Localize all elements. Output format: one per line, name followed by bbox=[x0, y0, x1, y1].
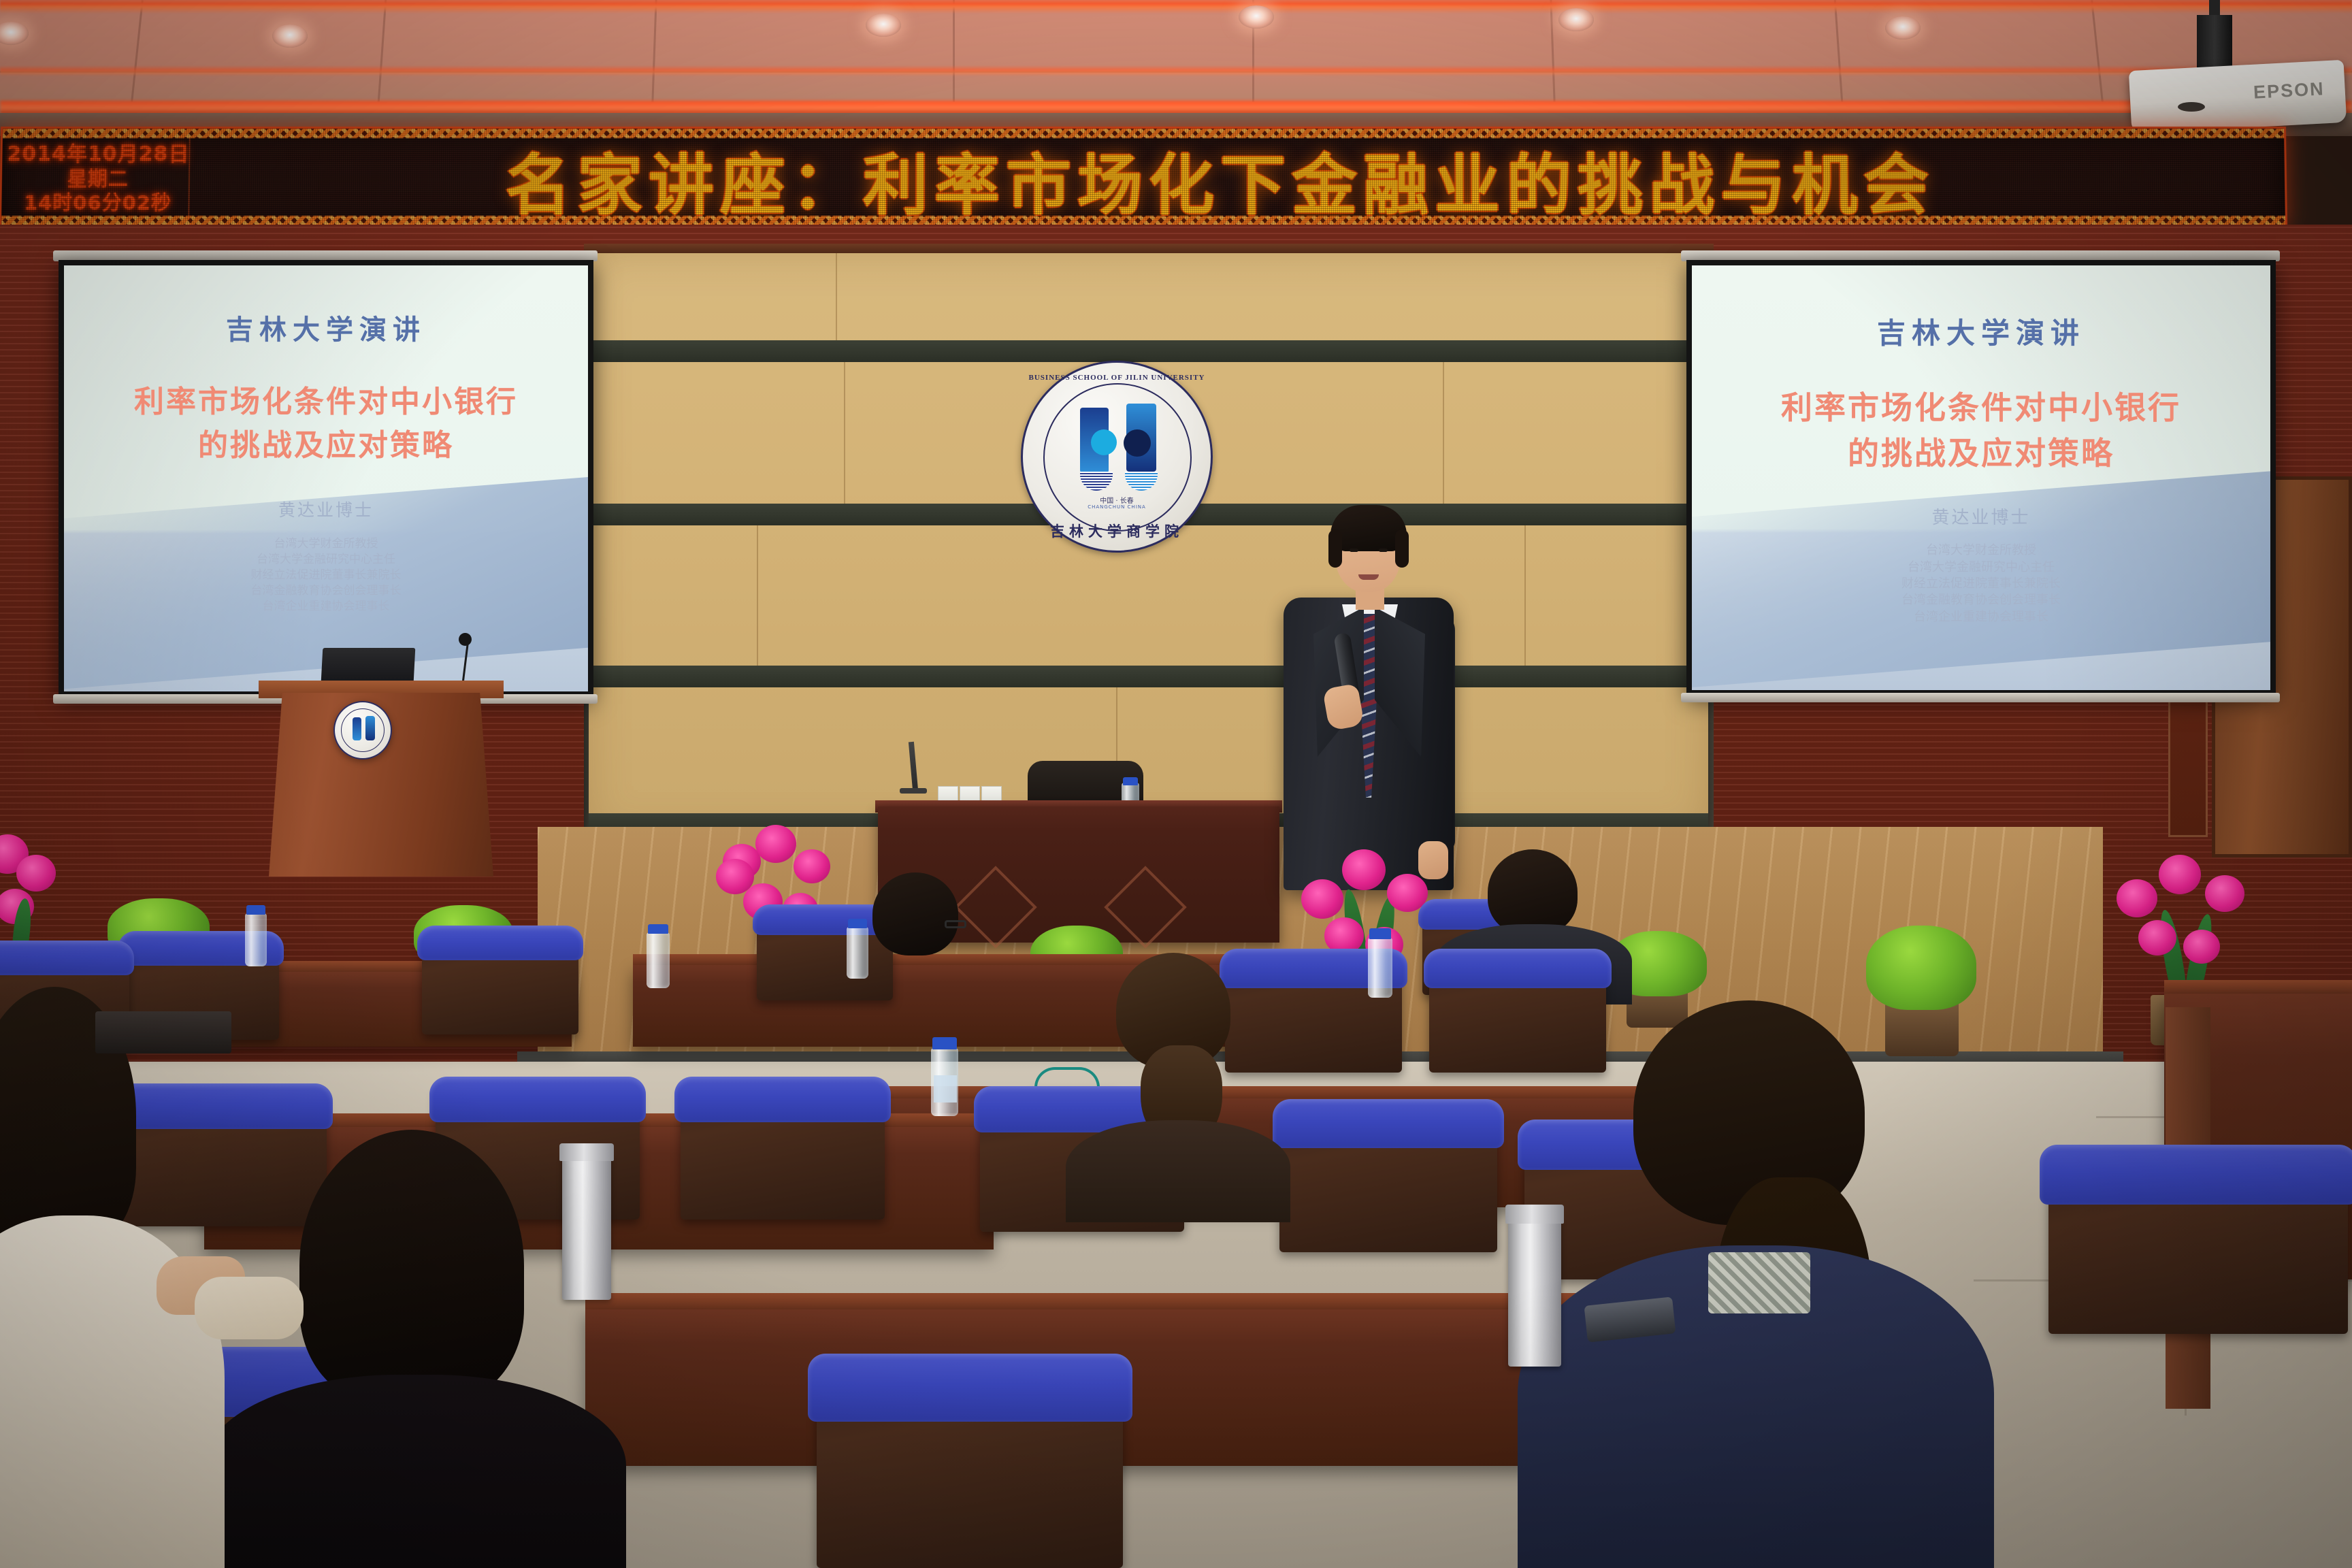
bottle-cap-icon bbox=[932, 1037, 957, 1049]
left-projection-screen: 吉林大学演讲 利率市场化条件对中小银行 的挑战及应对策略 黄达业博士 台湾大学财… bbox=[59, 260, 593, 697]
slide-speaker-name: 黄达业博士 bbox=[1692, 504, 2270, 529]
chair[interactable] bbox=[681, 1086, 885, 1220]
right-projection-screen: 吉林大学演讲 利率市场化条件对中小银行 的挑战及应对策略 黄达业博士 台湾大学财… bbox=[1686, 260, 2276, 696]
speaker-hair-side bbox=[1395, 529, 1409, 568]
seal-logo-mark bbox=[1124, 429, 1151, 457]
jilin-university-business-school-seal: BUSINESS SCHOOL OF JILIN UNIVERSITY 吉林大学… bbox=[1021, 361, 1213, 553]
orchid-flower bbox=[1301, 879, 1343, 919]
slide-credential: 台湾大学财金所教授 bbox=[64, 536, 588, 552]
slide-credential: 财经立法促进院董事长兼院长 bbox=[64, 568, 588, 583]
audience-person-shoulders bbox=[204, 1375, 626, 1568]
wall-panel-seam bbox=[844, 362, 845, 504]
audience-person-head bbox=[1488, 849, 1578, 935]
orchid-flower bbox=[2183, 930, 2220, 964]
audience-person-glasses-icon bbox=[945, 920, 966, 928]
orchid-flower bbox=[794, 849, 830, 883]
slide-heading: 吉林大学演讲 bbox=[1692, 310, 2270, 352]
chair[interactable] bbox=[122, 1093, 327, 1226]
water-bottle[interactable] bbox=[245, 913, 267, 966]
speaker-right-hand bbox=[1418, 841, 1448, 879]
slide-speaker-name: 黄达业博士 bbox=[64, 497, 588, 521]
table-microphone-base bbox=[900, 788, 927, 794]
projector-brand-label: EPSON bbox=[2253, 78, 2325, 103]
orchid-flower bbox=[1342, 849, 1386, 890]
seal-sub-chinese: 中国 · 长春 bbox=[1023, 495, 1211, 505]
audience-person-head bbox=[299, 1130, 524, 1402]
slide-credential: 台湾大学金融研究中心主任 bbox=[64, 552, 588, 568]
thermos-flask[interactable] bbox=[562, 1156, 611, 1300]
projector-lens-icon bbox=[2178, 102, 2205, 112]
audience-person-shoulders bbox=[1066, 1120, 1290, 1222]
lecture-hall-photo: EPSON 2014年10月28日 星期二 14时06分02秒 名家讲座：利率市… bbox=[0, 0, 2352, 1568]
podium-emblem-mark bbox=[353, 717, 361, 740]
bottle-cap-icon bbox=[848, 919, 867, 928]
podium-emblem bbox=[333, 701, 392, 759]
left-screen-surface: 吉林大学演讲 利率市场化条件对中小银行 的挑战及应对策略 黄达业博士 台湾大学财… bbox=[64, 265, 588, 691]
orchid-flower bbox=[2159, 855, 2201, 894]
wall-stripe bbox=[589, 666, 1708, 687]
speaker-hair-side bbox=[1328, 529, 1342, 568]
slide-title-line2: 的挑战及应对策略 bbox=[64, 426, 588, 465]
ceiling-downlight bbox=[1558, 8, 1594, 31]
bottle-cap-icon bbox=[1369, 928, 1391, 939]
water-bottle[interactable] bbox=[847, 927, 868, 979]
slide-credential: 台湾金融教育协会创会理事长 bbox=[64, 583, 588, 599]
chair[interactable] bbox=[422, 932, 578, 1034]
seal-english-text: BUSINESS SCHOOL OF JILIN UNIVERSITY bbox=[1023, 374, 1211, 382]
bottle-cap-icon bbox=[1123, 777, 1138, 785]
bottle-cap-icon bbox=[246, 905, 265, 915]
led-scrolling-banner: 2014年10月28日 星期二 14时06分02秒 名家讲座：利率市场化下金融业… bbox=[0, 127, 2287, 227]
slide-credential: 台湾企业重建协会理事长 bbox=[64, 599, 588, 615]
notebook[interactable] bbox=[95, 1011, 231, 1053]
projector: EPSON bbox=[2129, 60, 2347, 133]
bottle-label bbox=[934, 1075, 957, 1102]
slide-credential: 台湾大学财金所教授 bbox=[1692, 542, 2270, 559]
orchid-flower bbox=[16, 855, 56, 892]
slide-credential: 财经立法促进院董事长兼院长 bbox=[1692, 576, 2270, 592]
thermos-flask[interactable] bbox=[1508, 1218, 1561, 1367]
right-screen-surface: 吉林大学演讲 利率市场化条件对中小银行 的挑战及应对策略 黄达业博士 台湾大学财… bbox=[1692, 265, 2270, 690]
audience-person-head bbox=[872, 872, 958, 955]
bottle-cap-icon bbox=[648, 924, 668, 934]
slide-heading: 吉林大学演讲 bbox=[64, 308, 588, 347]
slide-credential: 台湾金融教育协会创会理事长 bbox=[1692, 592, 2270, 608]
led-datetime-block: 2014年10月28日 星期二 14时06分02秒 bbox=[7, 138, 191, 220]
slide-title-line2: 的挑战及应对策略 bbox=[1692, 433, 2270, 474]
right-screen-bottom-bar bbox=[1681, 693, 2280, 702]
cove-light bbox=[0, 101, 2352, 114]
slide-credential: 台湾企业重建协会理事长 bbox=[1692, 609, 2270, 625]
audience-plaid-collar bbox=[1708, 1252, 1810, 1313]
chair[interactable] bbox=[1429, 957, 1606, 1073]
water-bottle[interactable] bbox=[1368, 938, 1392, 998]
seal-chinese-text: 吉林大学商学院 bbox=[1023, 521, 1211, 541]
wall-stripe bbox=[589, 340, 1708, 362]
orchid-flower bbox=[2205, 875, 2244, 912]
ceiling-downlight bbox=[866, 14, 901, 37]
wall-panel-seam bbox=[1443, 362, 1444, 504]
wall-panel-seam bbox=[836, 253, 837, 340]
wall-panel-seam bbox=[757, 525, 758, 666]
led-date: 2014年10月28日 bbox=[7, 143, 189, 166]
podium-emblem-ring bbox=[341, 708, 385, 752]
chair[interactable] bbox=[2048, 1157, 2348, 1334]
led-time: 14时06分02秒 bbox=[24, 192, 172, 214]
orchid-flower bbox=[2117, 879, 2157, 917]
led-lecture-title: 名家讲座：利率市场化下金融业的挑战与机会 bbox=[206, 137, 2235, 221]
orchid-flower bbox=[2138, 920, 2176, 955]
ceiling-downlight bbox=[1239, 5, 1274, 29]
ceiling-downlight bbox=[1885, 16, 1921, 39]
orchid-flower bbox=[755, 825, 796, 863]
orchid-flower bbox=[716, 859, 754, 894]
podium-microphone-icon bbox=[459, 633, 472, 646]
speaker-eye bbox=[1350, 549, 1358, 552]
podium-emblem-mark bbox=[365, 716, 375, 740]
chair[interactable] bbox=[817, 1368, 1123, 1568]
water-bottle[interactable] bbox=[647, 932, 670, 988]
wall-panel-seam bbox=[1524, 525, 1526, 666]
chair[interactable] bbox=[1279, 1109, 1497, 1252]
slide-title-line1: 利率市场化条件对中小银行 bbox=[1692, 387, 2270, 429]
slide-title-line1: 利率市场化条件对中小银行 bbox=[64, 382, 588, 422]
projector-mount-bracket bbox=[2197, 15, 2232, 72]
seal-sub-english: CHANGCHUN CHINA bbox=[1023, 504, 1211, 510]
thermos-cap bbox=[559, 1143, 614, 1161]
audience-person-hand bbox=[195, 1277, 304, 1339]
speaker-mouth bbox=[1358, 574, 1379, 580]
potted-shrub bbox=[1866, 926, 1976, 1010]
podium-laptop[interactable] bbox=[321, 648, 416, 682]
slide-credential: 台湾大学金融研究中心主任 bbox=[1692, 559, 2270, 576]
speaker-eye bbox=[1379, 549, 1388, 552]
led-weekday: 星期二 bbox=[67, 168, 129, 191]
seal-logo-mark bbox=[1091, 429, 1117, 455]
ceiling-downlight bbox=[272, 24, 308, 48]
thermos-cap bbox=[1505, 1205, 1564, 1224]
